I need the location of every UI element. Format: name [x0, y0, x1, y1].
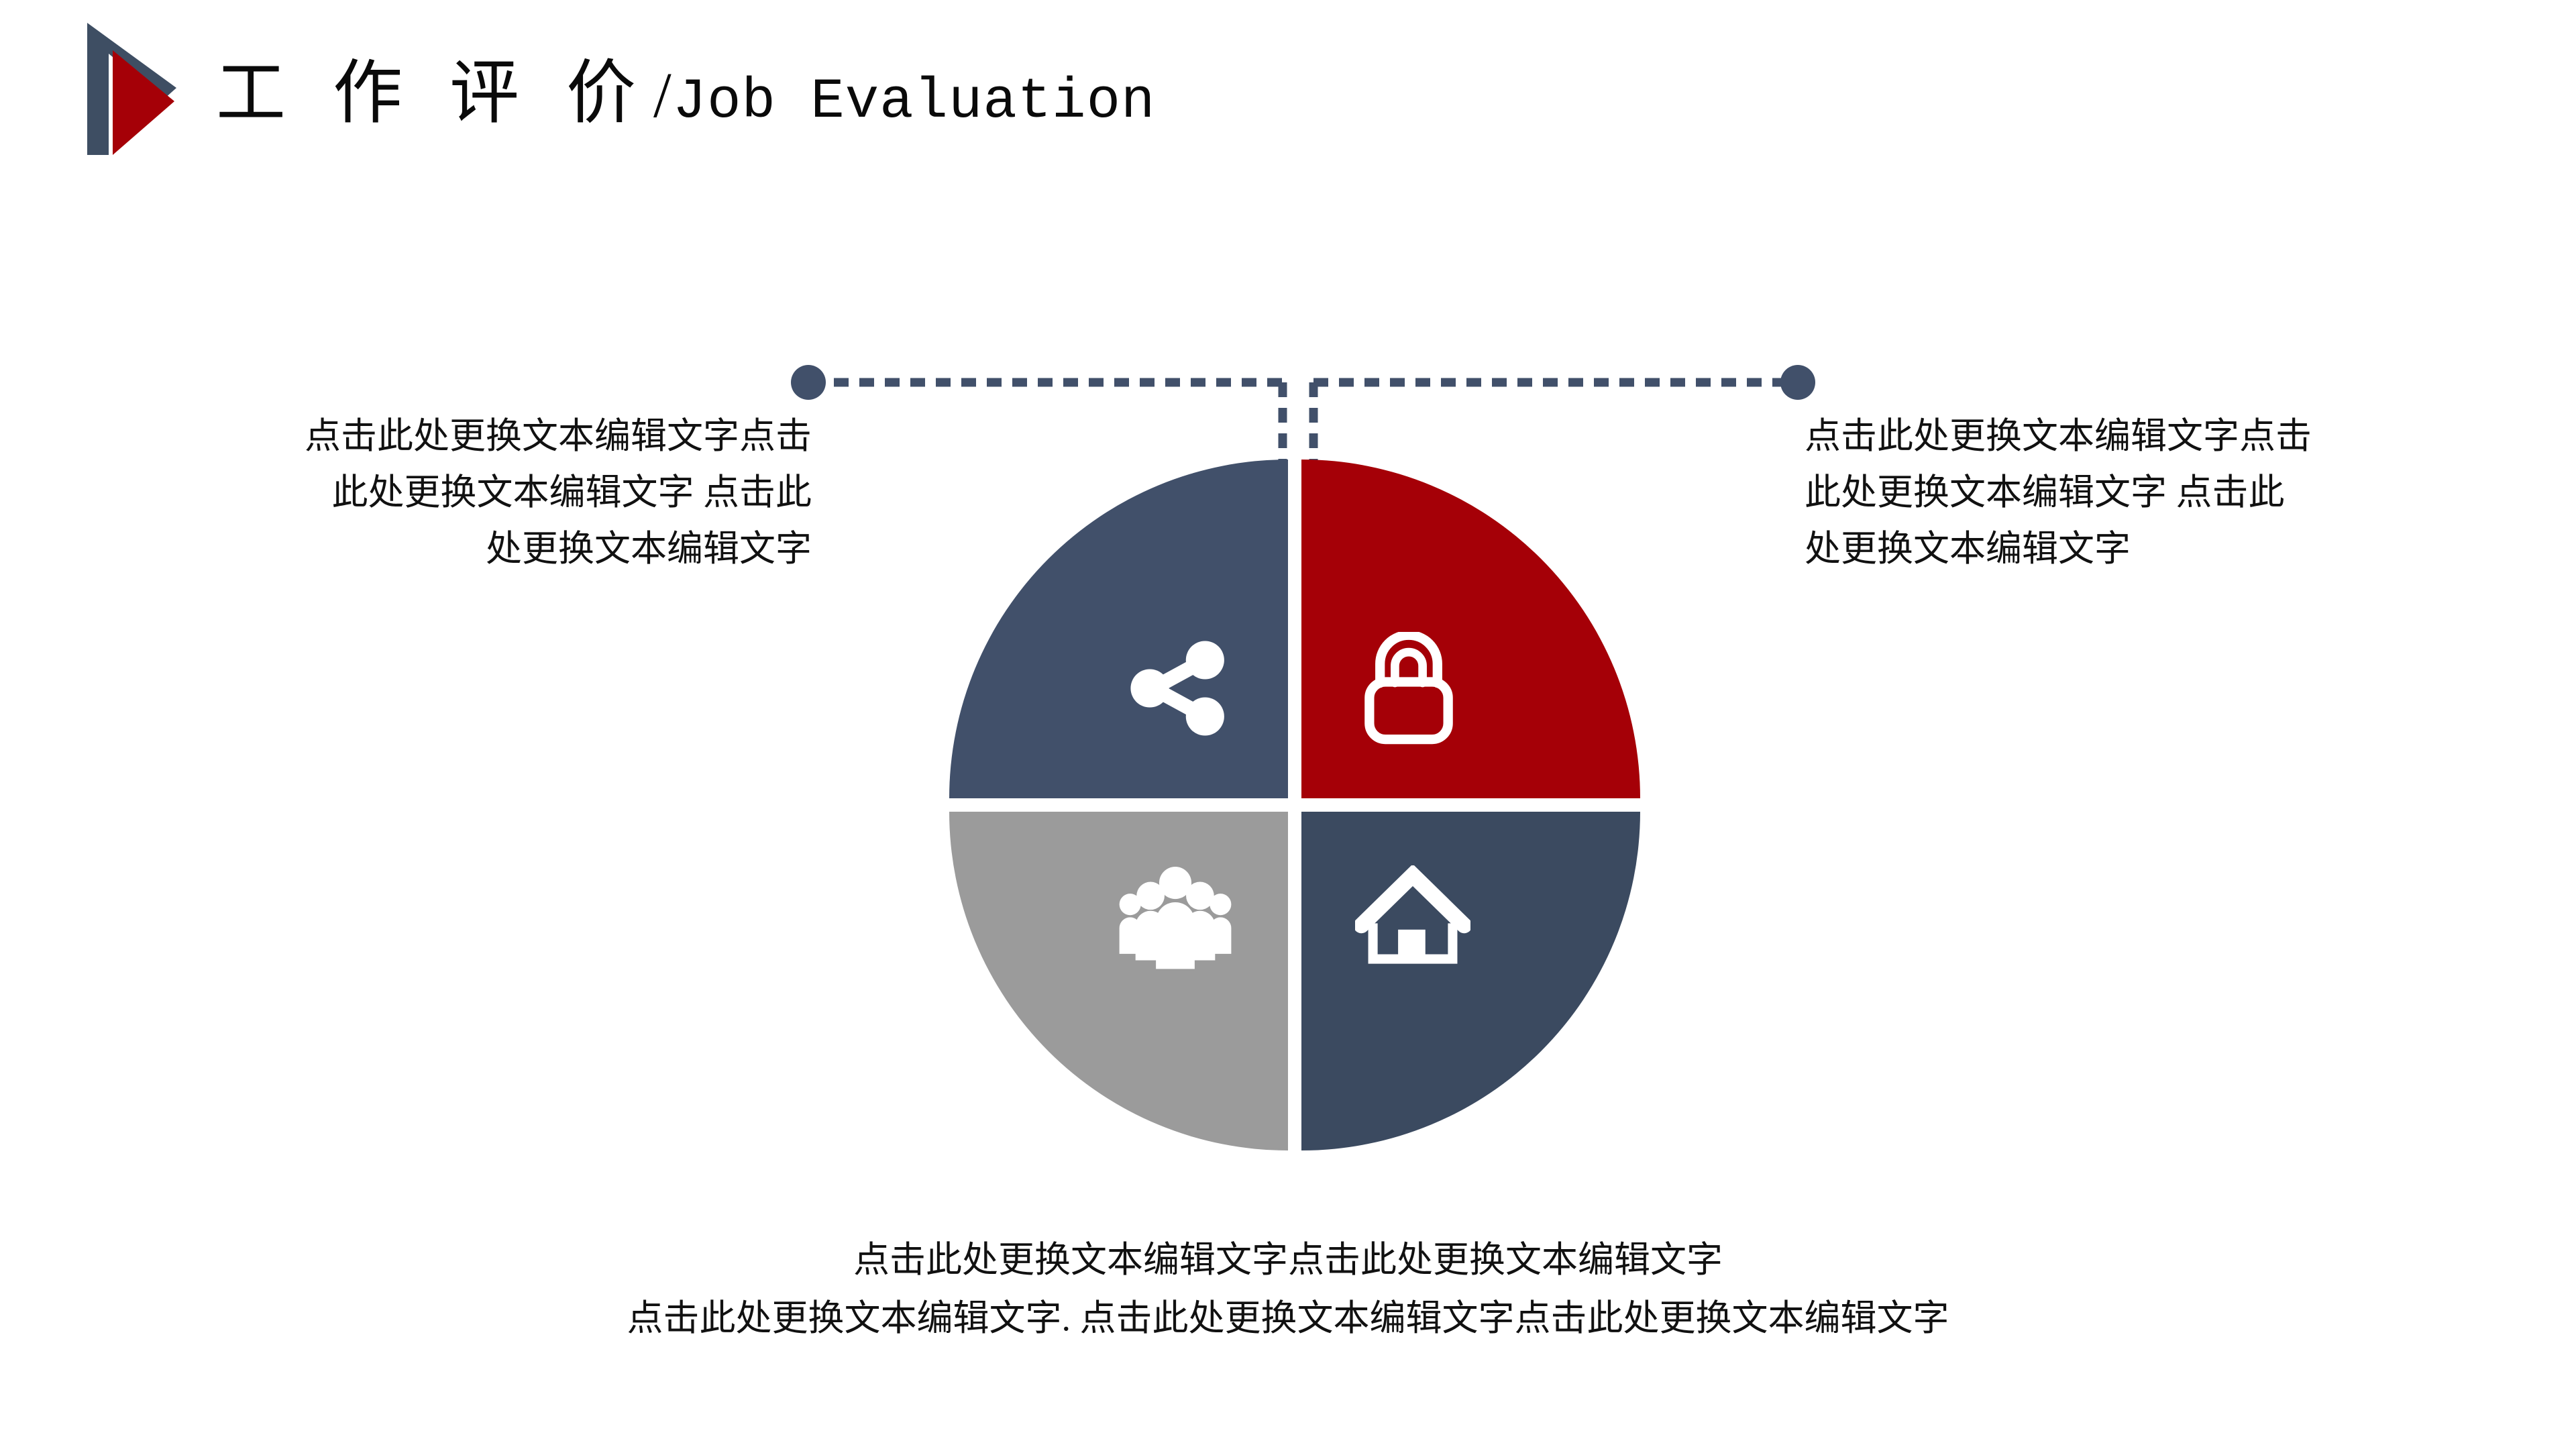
lock-icon	[1355, 632, 1462, 745]
right-connector-dot	[1780, 365, 1815, 400]
people-group-icon	[1113, 865, 1238, 971]
right-description-text: 点击此处更换文本编辑文字点击 此处更换文本编辑文字 点击此 处更换文本编辑文字	[1805, 408, 2482, 578]
home-icon	[1355, 865, 1470, 969]
left-text-line-3: 处更换文本编辑文字	[141, 521, 812, 577]
home-icon-wrap	[1301, 812, 1640, 1150]
slide-header: 工 作 评 价 / Job Evaluation	[0, 0, 2576, 174]
caption-line-1: 点击此处更换文本编辑文字点击此处更换文本编辑文字	[0, 1231, 2576, 1289]
four-quadrant-circle-diagram	[949, 460, 1640, 1150]
quadrant-top-right-lock[interactable]	[1301, 460, 1640, 798]
bottom-caption: 点击此处更换文本编辑文字点击此处更换文本编辑文字 点击此处更换文本编辑文字. 点…	[0, 1231, 2576, 1348]
page-title-separator: /	[651, 63, 673, 127]
people-group-icon-wrap	[949, 812, 1288, 1150]
share-icon-wrap	[949, 460, 1288, 798]
page-title: 工 作 评 价 / Job Evaluation	[216, 59, 1155, 146]
quadrant-bottom-left-people[interactable]	[949, 812, 1288, 1150]
left-connector-dot	[791, 365, 826, 400]
left-text-line-1: 点击此处更换文本编辑文字点击	[141, 408, 812, 464]
left-text-line-2: 此处更换文本编辑文字 点击此	[141, 464, 812, 521]
right-text-line-1: 点击此处更换文本编辑文字点击	[1805, 408, 2482, 464]
page-title-en: Job Evaluation	[673, 74, 1156, 131]
page-title-cn: 工 作 评 价	[216, 59, 651, 129]
right-text-line-3: 处更换文本编辑文字	[1805, 521, 2482, 577]
left-description-text: 点击此处更换文本编辑文字点击 此处更换文本编辑文字 点击此 处更换文本编辑文字	[141, 408, 812, 578]
quadrant-bottom-right-home[interactable]	[1301, 812, 1640, 1150]
caption-line-2: 点击此处更换文本编辑文字. 点击此处更换文本编辑文字点击此处更换文本编辑文字	[0, 1289, 2576, 1348]
right-text-line-2: 此处更换文本编辑文字 点击此	[1805, 464, 2482, 521]
share-icon	[1122, 632, 1234, 745]
lock-icon-wrap	[1301, 460, 1640, 798]
quadrant-top-left-share[interactable]	[949, 460, 1288, 798]
play-triangle-logo	[86, 12, 176, 156]
